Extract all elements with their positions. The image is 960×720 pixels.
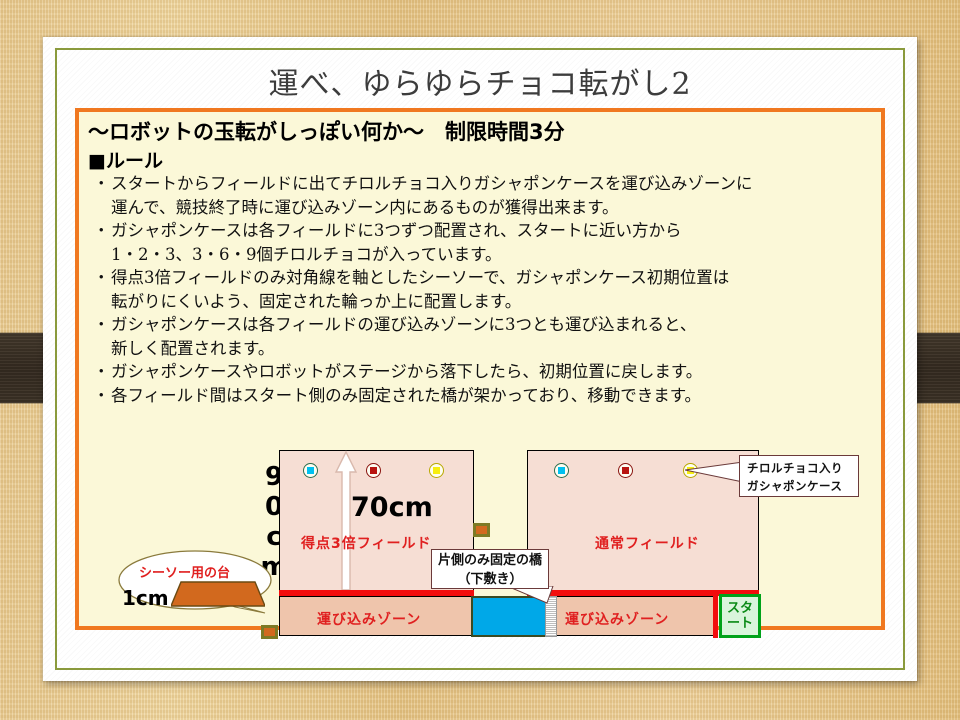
callout-bridge-line2: （下敷き） xyxy=(432,570,548,589)
gashapon-case xyxy=(429,463,444,478)
callout-bridge: 片側のみ固定の橋 （下敷き） xyxy=(431,549,549,589)
start-zone: スタ ート xyxy=(719,594,761,638)
callout-case-tail xyxy=(685,462,747,484)
delivery-zone-right-label: 運び込みゾーン xyxy=(565,609,669,629)
field-triple-score-label: 得点3倍フィールド xyxy=(301,533,431,553)
delivery-zone-left-label: 運び込みゾーン xyxy=(317,609,421,629)
seesaw-base-top-right xyxy=(473,523,490,537)
callout-seesaw-label: シーソー用の台 xyxy=(139,562,230,581)
case-inner-square xyxy=(558,467,565,474)
slide-stage: 運べ、ゆらゆらチョコ転がし2 〜ロボットの玉転がしっぽい何か〜 制限時間3分 ■… xyxy=(0,0,960,720)
field-normal-label: 通常フィールド xyxy=(595,533,700,553)
callout-case-line2: ガシャポンケース xyxy=(747,477,858,495)
callout-bridge-line1: 片側のみ固定の橋 xyxy=(432,551,548,570)
seesaw-base-shape xyxy=(171,580,265,608)
case-inner-square xyxy=(622,467,629,474)
content-box: 〜ロボットの玉転がしっぽい何か〜 制限時間3分 ■ルール ・スタートからフィール… xyxy=(75,108,885,630)
seesaw-base-bottom-left xyxy=(261,625,278,639)
page-title: 運べ、ゆらゆらチョコ転がし2 xyxy=(63,59,897,103)
gashapon-case xyxy=(554,463,569,478)
callout-gashapon-case: チロルチョコ入り ガシャポンケース xyxy=(739,455,859,497)
start-divider xyxy=(713,593,718,638)
callout-case-line1: チロルチョコ入り xyxy=(747,459,858,477)
gashapon-case xyxy=(303,463,318,478)
case-inner-square xyxy=(433,467,440,474)
gashapon-case xyxy=(366,463,381,478)
start-label-line1: スタ xyxy=(727,601,753,616)
dimension-70cm-label: 70cm xyxy=(351,492,433,523)
case-inner-square xyxy=(307,467,314,474)
start-label-line2: ート xyxy=(727,616,753,631)
field-diagram: 90cm 70cm xyxy=(79,112,889,634)
case-inner-square xyxy=(370,467,377,474)
callout-seesaw-height: 1cm xyxy=(122,586,169,610)
slide-card: 運べ、ゆらゆらチョコ転がし2 〜ロボットの玉転がしっぽい何か〜 制限時間3分 ■… xyxy=(43,37,917,681)
gashapon-case xyxy=(618,463,633,478)
